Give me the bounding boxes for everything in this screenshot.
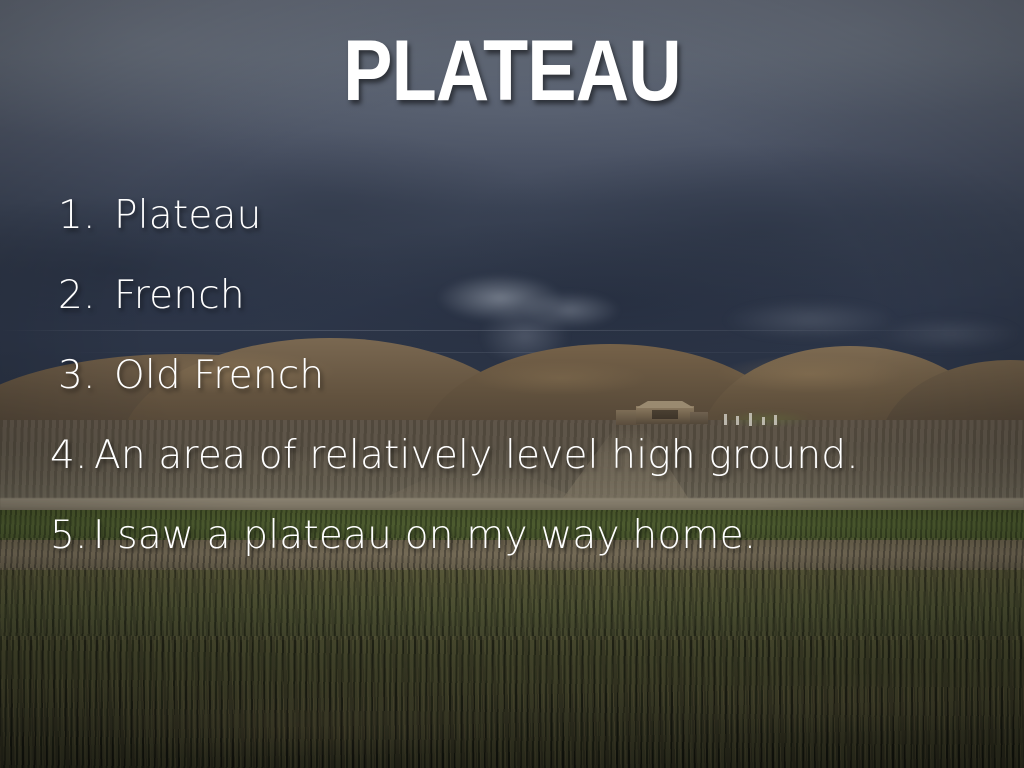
list-item-number: 1. (58, 196, 114, 235)
list-item: 2. French (0, 276, 1024, 315)
list-item-text: Plateau (114, 196, 262, 235)
list-item: 4. An area of relatively level high grou… (0, 436, 1024, 475)
list-item-text: I saw a plateau on my way home. (93, 516, 756, 555)
slide-title: PLATEAU (72, 28, 953, 114)
list-item: 5. I saw a plateau on my way home. (0, 516, 1024, 555)
presentation-slide: PLATEAU 1. Plateau 2. French 3. Old Fren… (0, 0, 1024, 768)
list-item-number: 2. (58, 276, 114, 315)
list-item-number: 4. (50, 436, 94, 475)
list-item: 3. Old French (0, 356, 1024, 395)
list-item-text: An area of relatively level high ground. (94, 436, 859, 475)
slide-content: PLATEAU 1. Plateau 2. French 3. Old Fren… (0, 0, 1024, 768)
list-item-number: 5. (50, 516, 93, 555)
definition-list: 1. Plateau 2. French 3. Old French 4. An… (0, 196, 1024, 596)
list-item-number: 3. (58, 356, 114, 395)
list-item: 1. Plateau (0, 196, 1024, 235)
list-item-text: Old French (114, 356, 324, 395)
list-item-text: French (114, 276, 245, 315)
